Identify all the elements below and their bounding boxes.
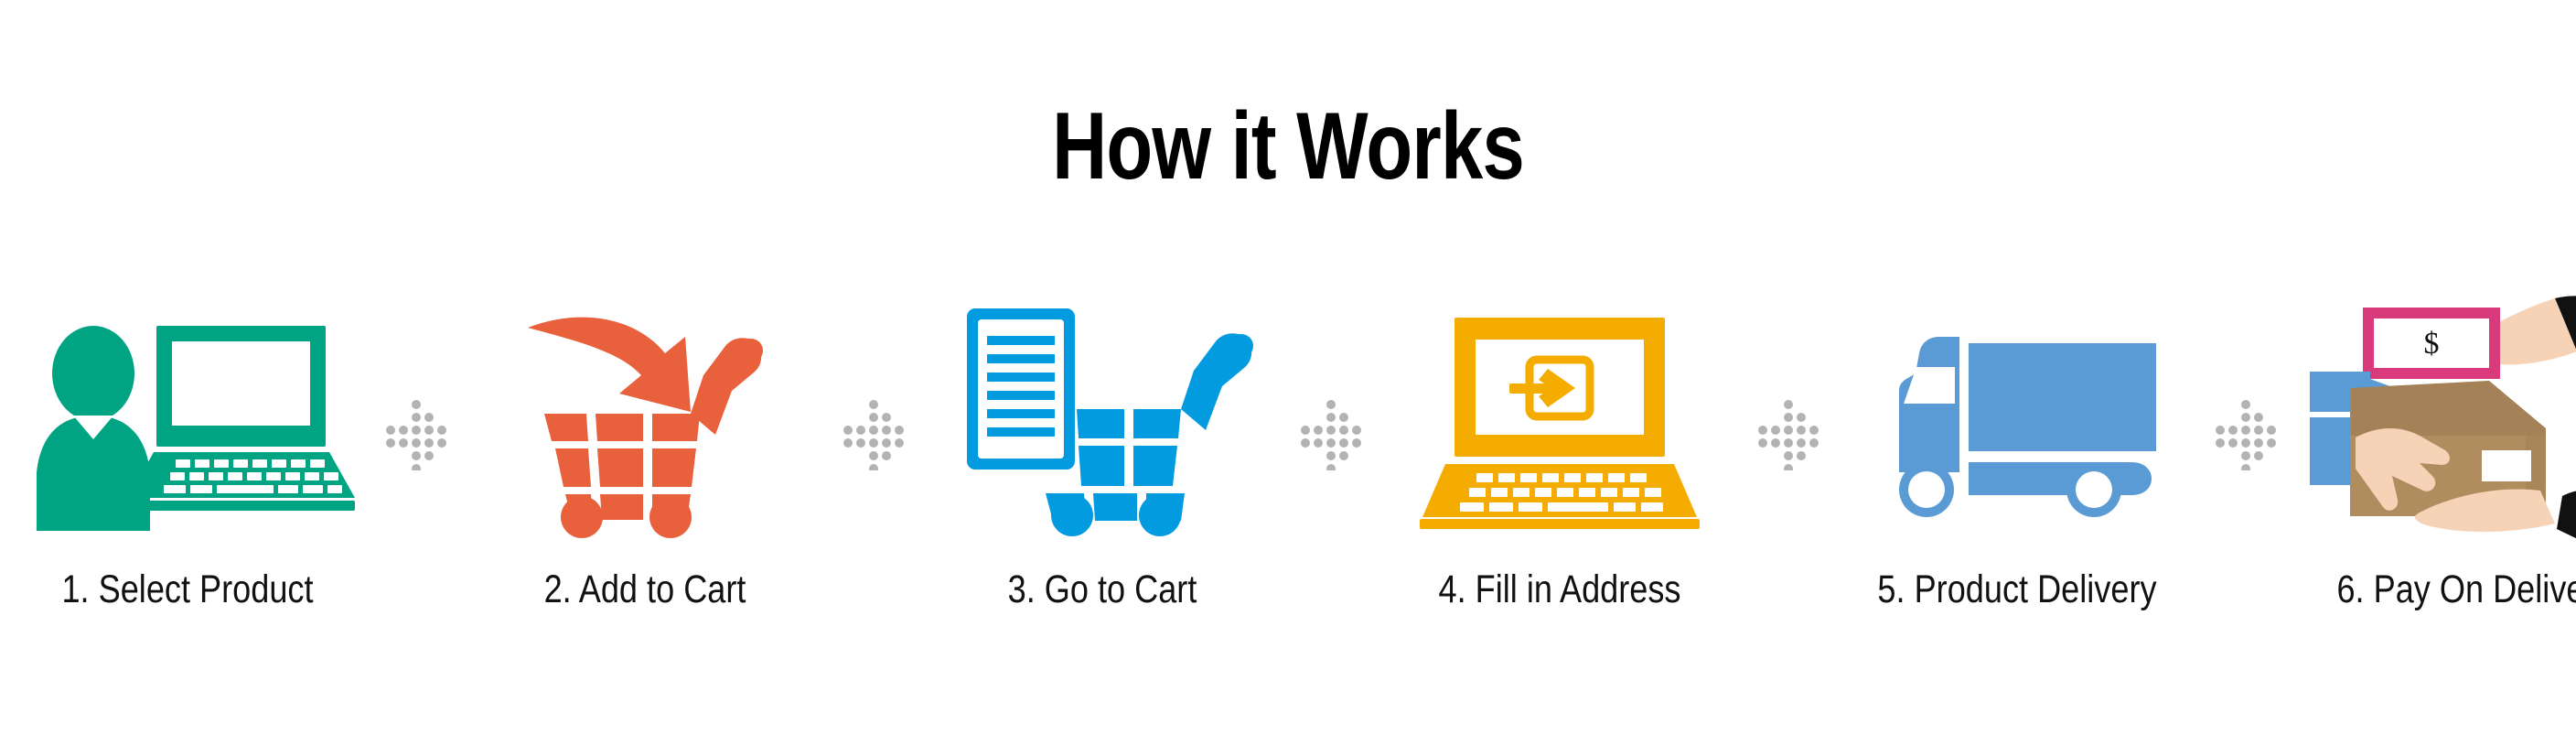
- step-1-label: 1. Select Product: [30, 567, 345, 612]
- step-2-label: 2. Add to Cart: [488, 567, 802, 612]
- dotted-arrow-right-icon: [2205, 302, 2287, 632]
- step-3-go-to-cart[interactable]: 3. Go to Cart: [915, 302, 1290, 632]
- step-1-select-product[interactable]: 1. Select Product: [0, 302, 375, 632]
- dotted-arrow-right-icon: [832, 302, 915, 632]
- infographic-canvas: How it Works: [0, 0, 2576, 745]
- step-6-pay-on-delivery[interactable]: $: [2287, 302, 2576, 632]
- document-with-cart-icon: [915, 302, 1290, 531]
- money-symbol: $: [2424, 327, 2440, 361]
- step-4-label: 4. Fill in Address: [1402, 567, 1717, 612]
- dotted-arrow-right-icon: [1747, 302, 1830, 632]
- person-with-laptop-icon: [0, 302, 375, 531]
- dotted-arrow-right-icon: [375, 302, 457, 632]
- laptop-login-icon: [1372, 302, 1747, 531]
- cart-with-arrow-icon: [457, 302, 832, 531]
- step-5-product-delivery[interactable]: 5. Product Delivery: [1830, 302, 2205, 632]
- dotted-arrow-right-icon: [1290, 302, 1372, 632]
- step-4-fill-in-address[interactable]: 4. Fill in Address: [1372, 302, 1747, 632]
- step-2-add-to-cart[interactable]: 2. Add to Cart: [457, 302, 832, 632]
- step-6-label: 6. Pay On Delivery: [2317, 567, 2576, 612]
- money-note: $: [2363, 308, 2500, 379]
- step-3-label: 3. Go to Cart: [945, 567, 1260, 612]
- steps-row: 1. Select Product: [0, 302, 2576, 632]
- hands-box-money-icon: $: [2287, 302, 2576, 531]
- step-5-label: 5. Product Delivery: [1860, 567, 2174, 612]
- page-title: How it Works: [258, 99, 2319, 194]
- delivery-truck-icon: [1830, 302, 2205, 531]
